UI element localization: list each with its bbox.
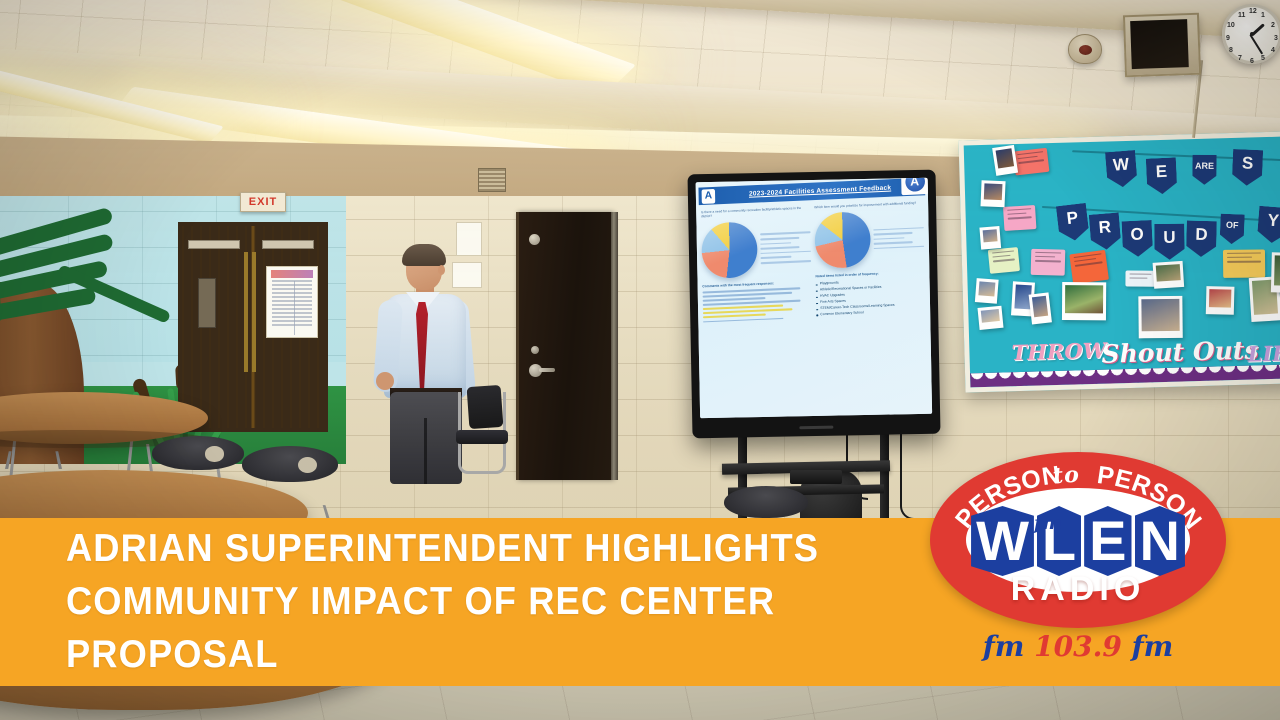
exit-sign: EXIT (240, 192, 286, 212)
logo-frequency-prefix: fm (983, 630, 1025, 663)
alarm-bell-icon (1068, 34, 1102, 64)
district-logo-letter: A (905, 178, 925, 192)
media-device-box (790, 470, 842, 484)
pennant-letter: U (1154, 224, 1184, 260)
display-stand-leg (880, 430, 889, 530)
door-hinge (529, 234, 540, 245)
wall-vent (478, 168, 506, 192)
door-posted-notice (266, 266, 318, 338)
pennant-letter: P (1056, 203, 1090, 242)
door-jamb (611, 212, 618, 480)
door-wood-surface (182, 226, 324, 428)
pie-chart-right-wrap (814, 209, 924, 269)
pie-chart-left (701, 221, 758, 279)
sticky-note (1125, 271, 1155, 287)
photo (977, 306, 1003, 330)
logo-letter-w: W (971, 506, 1034, 576)
wlen-station-logo: PERSON to PERSON W L E N fm RADIO fm 103… (930, 452, 1226, 676)
door-closer (188, 240, 240, 249)
pennant-letter: E (1146, 157, 1178, 194)
logo-frequency-number: 103.9 (1034, 630, 1122, 663)
exit-sign-label: EXIT (249, 196, 277, 208)
board-script-word: LIK (1247, 340, 1280, 366)
board-script-word: THROW (1011, 338, 1106, 366)
logo-letter-e: E (1084, 506, 1131, 576)
photo (1153, 261, 1185, 289)
presentation-display[interactable]: A 2023-2024 Facilities Assessment Feedba… (687, 170, 940, 439)
door-kick-plate (198, 278, 216, 328)
pie-chart-left-wrap (701, 219, 811, 279)
photo (1138, 296, 1182, 338)
photo (992, 145, 1018, 176)
pie-chart-left-legend (760, 232, 811, 264)
bulletin-board: W E ARE S P R O U D OF Y (959, 131, 1280, 392)
student-chair (452, 386, 514, 482)
slide-notes-left (702, 287, 812, 323)
pennant-letter: OF (1220, 214, 1245, 245)
pennant-letter: D (1186, 221, 1217, 258)
bulletin-board-surface: W E ARE S P R O U D OF Y (964, 137, 1280, 388)
district-logo: A (901, 178, 928, 195)
photo (1029, 292, 1052, 324)
sticky-note (1069, 250, 1109, 284)
pennant-letter: Y (1257, 206, 1280, 244)
logo-fm-mark: fm (1034, 512, 1062, 534)
pennant-letter: O (1122, 220, 1154, 257)
board-script-word: Shout Outs (1101, 335, 1259, 368)
presenter-ear (438, 265, 445, 275)
door-lock[interactable] (531, 346, 539, 354)
pie-chart-right (814, 212, 871, 270)
interior-door[interactable] (516, 212, 612, 480)
door-push-bar[interactable] (244, 252, 248, 372)
clock-center-pin (1250, 32, 1254, 36)
wall-speaker (1123, 13, 1201, 78)
sticky-note (1003, 205, 1036, 231)
sticky-note (1013, 148, 1050, 176)
slide-column-right: Which item would you prioritize for impr… (814, 200, 927, 413)
photo (975, 278, 999, 304)
wall-clock: 12 1 2 3 4 5 6 7 8 9 10 11 (1222, 4, 1280, 64)
slide-column-left: Is there a need for a community recreati… (701, 205, 814, 418)
logo-letter-n: N (1135, 506, 1185, 576)
district-badge-icon: A (702, 188, 716, 203)
pennant-letter: ARE (1192, 155, 1216, 185)
logo-radio-word: RADIO (930, 570, 1226, 609)
slide-title: 2023-2024 Facilities Assessment Feedback (715, 183, 925, 199)
slide-question-right: Which item would you prioritize for impr… (814, 200, 923, 209)
broadcast-screenshot: EXIT (0, 0, 1280, 720)
slide-body: Is there a need for a community recreati… (701, 200, 927, 418)
pie-chart-right-legend (873, 227, 924, 250)
slide-question-left: Is there a need for a community recreati… (701, 205, 810, 219)
speaker-grille (1130, 19, 1189, 69)
logo-frequency-suffix: fm (1132, 630, 1174, 663)
exit-double-doors[interactable] (178, 222, 328, 432)
door-closer (262, 240, 314, 249)
photo (1062, 282, 1106, 320)
slide: A 2023-2024 Facilities Assessment Feedba… (696, 178, 932, 418)
sticky-note (1223, 250, 1265, 278)
pennant-letter: W (1105, 150, 1138, 188)
lower-third-headline: ADRIAN SUPERINTENDENT HIGHLIGHTS COMMUNI… (66, 522, 866, 681)
sticky-note (1031, 249, 1066, 276)
door-handle[interactable] (529, 364, 542, 377)
photo (981, 180, 1006, 207)
sticky-note (988, 247, 1020, 274)
slide-bullet-list: Playgrounds Athletic/Recreational Spaces… (816, 277, 926, 318)
pennant-letter: S (1232, 149, 1263, 186)
photo (1206, 286, 1235, 315)
clock-minute-hand (1249, 34, 1263, 55)
pennant-letter: R (1089, 212, 1122, 250)
door-push-bar[interactable] (252, 252, 256, 372)
presenter-hair (402, 244, 446, 266)
photo (979, 226, 1001, 250)
logo-frequency: fm 103.9 fm (930, 630, 1226, 663)
display-screen: A 2023-2024 Facilities Assessment Feedba… (696, 178, 932, 418)
photo (1271, 252, 1280, 293)
